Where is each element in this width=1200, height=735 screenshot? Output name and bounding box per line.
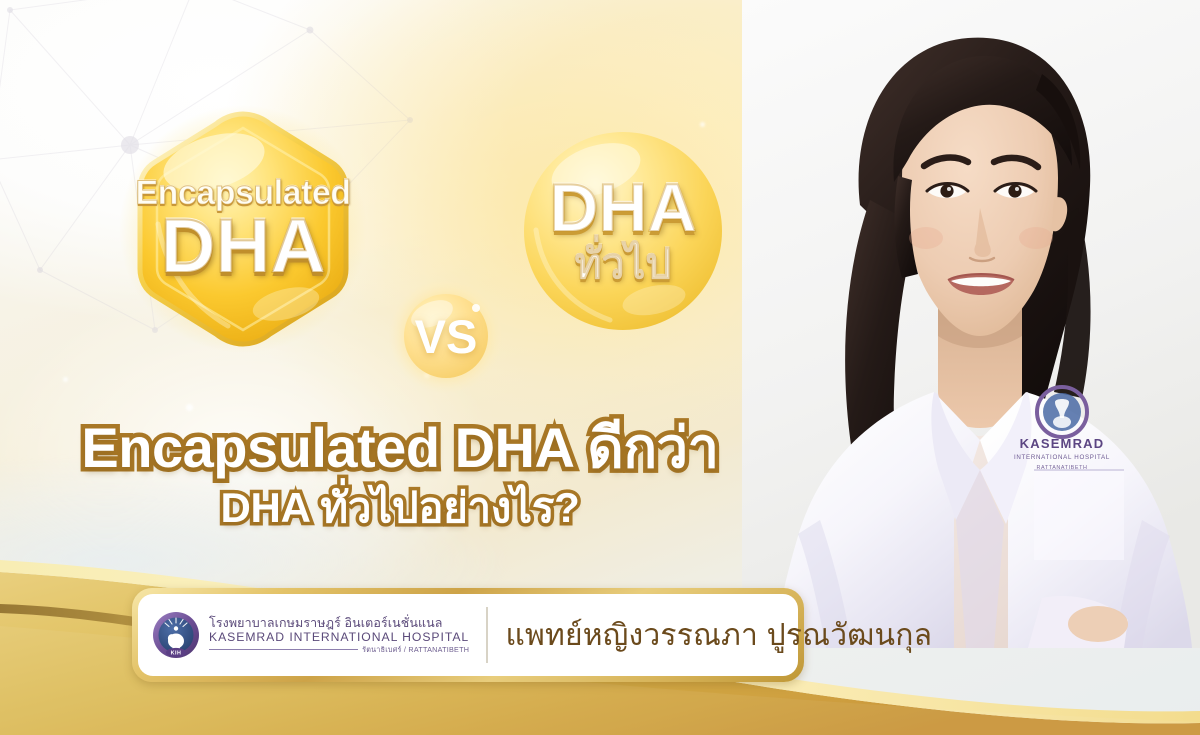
headline-line-1: Encapsulated DHA ดีกว่า (0, 418, 800, 477)
svg-text:KASEMRAD: KASEMRAD (1020, 436, 1105, 451)
encapsulated-dha-hexagon-capsule (118, 104, 368, 354)
branch-divider-rule (209, 649, 358, 650)
hospital-branch-label: รัตนาธิเบศร์ / RATTANATIBETH (362, 646, 469, 654)
doctor-photo: KASEMRAD INTERNATIONAL HOSPITAL RATTANAT… (742, 0, 1200, 648)
capsule-comparison-row: Encapsulated DHA VS (0, 96, 790, 366)
hospital-credit-card-inner: KIH โรงพยาบาลเกษมราษฎร์ อินเตอร์เนชั่นแน… (138, 594, 798, 676)
hospital-branch-row: รัตนาธิเบศร์ / RATTANATIBETH (209, 646, 469, 654)
svg-text:RATTANATIBETH: RATTANATIBETH (1037, 465, 1088, 471)
svg-text:INTERNATIONAL HOSPITAL: INTERNATIONAL HOSPITAL (1014, 454, 1110, 461)
hospital-logo-text: โรงพยาบาลเกษมราษฎร์ อินเตอร์เนชั่นแนล KA… (209, 617, 469, 654)
hospital-name-thai: โรงพยาบาลเกษมราษฎร์ อินเตอร์เนชั่นแนล (209, 617, 469, 630)
versus-orb (388, 278, 504, 394)
hospital-credit-card: KIH โรงพยาบาลเกษมราษฎร์ อินเตอร์เนชั่นแน… (132, 588, 804, 682)
sparkle-dot (63, 377, 68, 382)
doctor-name-label: แพทย์หญิงวรรณภา ปูรณวัฒนกุล (506, 612, 933, 659)
svg-text:KIH: KIH (171, 651, 182, 657)
hospital-name-english: KASEMRAD INTERNATIONAL HOSPITAL (209, 631, 469, 644)
headline-block: Encapsulated DHA ดีกว่า DHA ทั่วไปอย่างไ… (0, 418, 800, 532)
headline-line-2: DHA ทั่วไปอย่างไร? (0, 485, 800, 531)
promotional-banner: Encapsulated DHA VS (0, 0, 1200, 735)
sparkle-dot (186, 404, 193, 411)
card-vertical-divider (486, 607, 488, 663)
general-dha-sphere-capsule (514, 122, 732, 340)
kasemrad-elephant-emblem-icon: KIH (152, 611, 200, 659)
hospital-logo-zone: KIH โรงพยาบาลเกษมราษฎร์ อินเตอร์เนชั่นแน… (152, 611, 482, 659)
